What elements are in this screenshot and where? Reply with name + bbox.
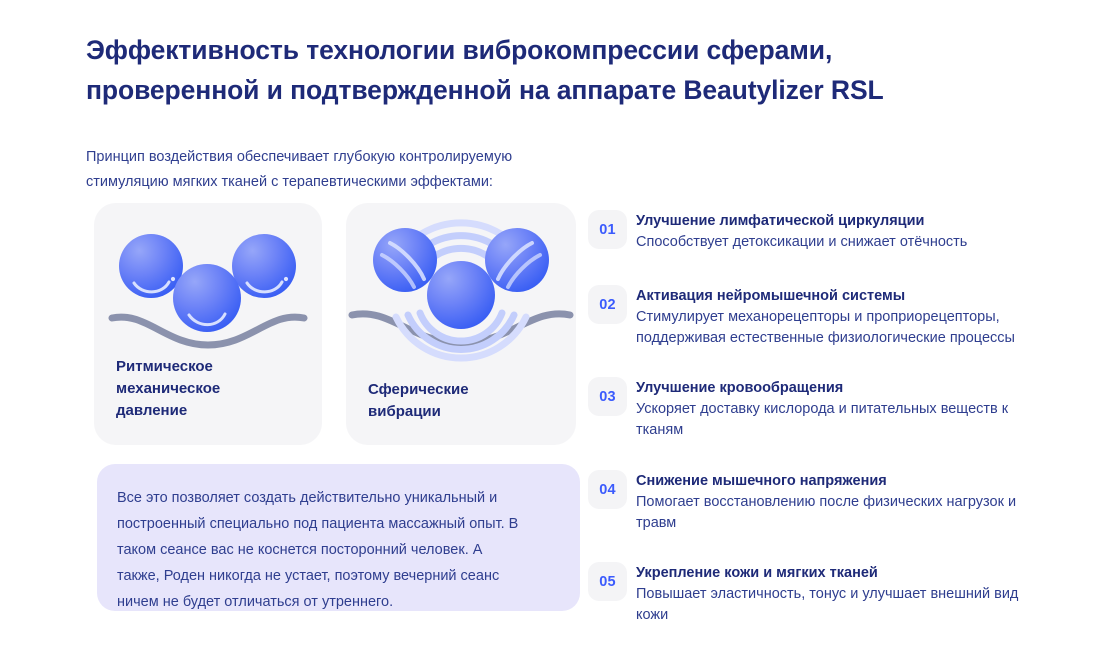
benefit-item-01[interactable]: 01 Улучшение лимфатической циркуляции Сп… <box>588 210 1061 253</box>
page-root: Эффективность технологии виброкомпрессии… <box>0 0 1105 655</box>
benefit-title: Улучшение кровообращения <box>636 378 1061 399</box>
callout-line-1: Все это позволяет создать действительно … <box>117 485 563 511</box>
benefit-desc-line-2: кожи <box>636 605 1061 626</box>
feature-card-spherical-vibrations[interactable]: Сферические вибрации <box>346 203 576 445</box>
intro-line-2: стимуляцию мягких тканей с терапевтическ… <box>86 170 606 195</box>
benefit-desc-line-1: Способствует детоксикации и снижает отёч… <box>636 232 1061 253</box>
benefit-description: Ускоряет доставку кислорода и питательны… <box>636 399 1061 441</box>
benefit-desc-line-2: травм <box>636 513 1061 534</box>
benefit-number-badge: 03 <box>588 377 627 416</box>
benefit-item-05[interactable]: 05 Укрепление кожи и мягких тканей Повыш… <box>588 562 1061 626</box>
page-title-line-2: проверенной и подтвержденной на аппарате… <box>86 70 1026 110</box>
benefit-number-badge: 04 <box>588 470 627 509</box>
benefit-desc-line-2: поддерживая естественные физиологические… <box>636 328 1061 349</box>
feature-card-title-line-1: Ритмическое <box>116 356 308 378</box>
benefit-body: Улучшение лимфатической циркуляции Спосо… <box>636 210 1061 253</box>
benefit-item-02[interactable]: 02 Активация нейромышечной системы Стиму… <box>588 285 1061 349</box>
benefit-desc-line-1: Повышает эластичность, тонус и улучшает … <box>636 584 1061 605</box>
benefit-desc-line-1: Стимулирует механорецепторы и проприорец… <box>636 307 1061 328</box>
benefit-body: Улучшение кровообращения Ускоряет достав… <box>636 377 1061 441</box>
benefit-item-03[interactable]: 03 Улучшение кровообращения Ускоряет дос… <box>588 377 1061 441</box>
benefit-desc-line-1: Ускоряет доставку кислорода и питательны… <box>636 399 1061 420</box>
benefit-description: Помогает восстановлению после физических… <box>636 492 1061 534</box>
benefit-number-badge: 05 <box>588 562 627 601</box>
feature-card-title: Ритмическое механическое давление <box>116 356 308 422</box>
benefit-body: Снижение мышечного напряжения Помогает в… <box>636 470 1061 534</box>
feature-card-title-line-2: вибрации <box>368 401 562 423</box>
benefit-item-04[interactable]: 04 Снижение мышечного напряжения Помогае… <box>588 470 1061 534</box>
spheres-vibration-waves-icon <box>346 203 576 353</box>
callout-line-3: таком сеансе вас не коснется посторонний… <box>117 537 563 563</box>
benefit-number-badge: 02 <box>588 285 627 324</box>
intro-line-1: Принцип воздействия обеспечивает глубоку… <box>86 145 606 170</box>
feature-card-title: Сферические вибрации <box>368 379 562 423</box>
callout-line-5: ничем не будет отличаться от утреннего. <box>117 589 563 615</box>
intro-paragraph: Принцип воздействия обеспечивает глубоку… <box>86 145 606 195</box>
benefit-title: Активация нейромышечной системы <box>636 286 1061 307</box>
three-spheres-on-wave-icon <box>94 203 322 353</box>
page-title: Эффективность технологии виброкомпрессии… <box>86 30 1026 110</box>
feature-card-mechanical-pressure[interactable]: Ритмическое механическое давление <box>94 203 322 445</box>
summary-callout-text: Все это позволяет создать действительно … <box>117 485 563 615</box>
feature-card-title-line-1: Сферические <box>368 379 562 401</box>
benefit-title: Укрепление кожи и мягких тканей <box>636 563 1061 584</box>
benefit-title: Улучшение лимфатической циркуляции <box>636 211 1061 232</box>
benefit-body: Активация нейромышечной системы Стимулир… <box>636 285 1061 349</box>
benefit-description: Стимулирует механорецепторы и проприорец… <box>636 307 1061 349</box>
callout-line-4: также, Роден никогда не устает, поэтому … <box>117 563 563 589</box>
benefit-description: Способствует детоксикации и снижает отёч… <box>636 232 1061 253</box>
benefit-description: Повышает эластичность, тонус и улучшает … <box>636 584 1061 626</box>
page-title-line-1: Эффективность технологии виброкомпрессии… <box>86 30 1026 70</box>
benefit-title: Снижение мышечного напряжения <box>636 471 1061 492</box>
benefit-desc-line-2: тканям <box>636 420 1061 441</box>
callout-line-2: построенный специально под пациента масс… <box>117 511 563 537</box>
feature-card-title-line-2: механическое <box>116 378 308 400</box>
benefit-desc-line-1: Помогает восстановлению после физических… <box>636 492 1061 513</box>
benefit-body: Укрепление кожи и мягких тканей Повышает… <box>636 562 1061 626</box>
feature-card-title-line-3: давление <box>116 400 308 422</box>
summary-callout: Все это позволяет создать действительно … <box>97 464 580 611</box>
benefit-number-badge: 01 <box>588 210 627 249</box>
